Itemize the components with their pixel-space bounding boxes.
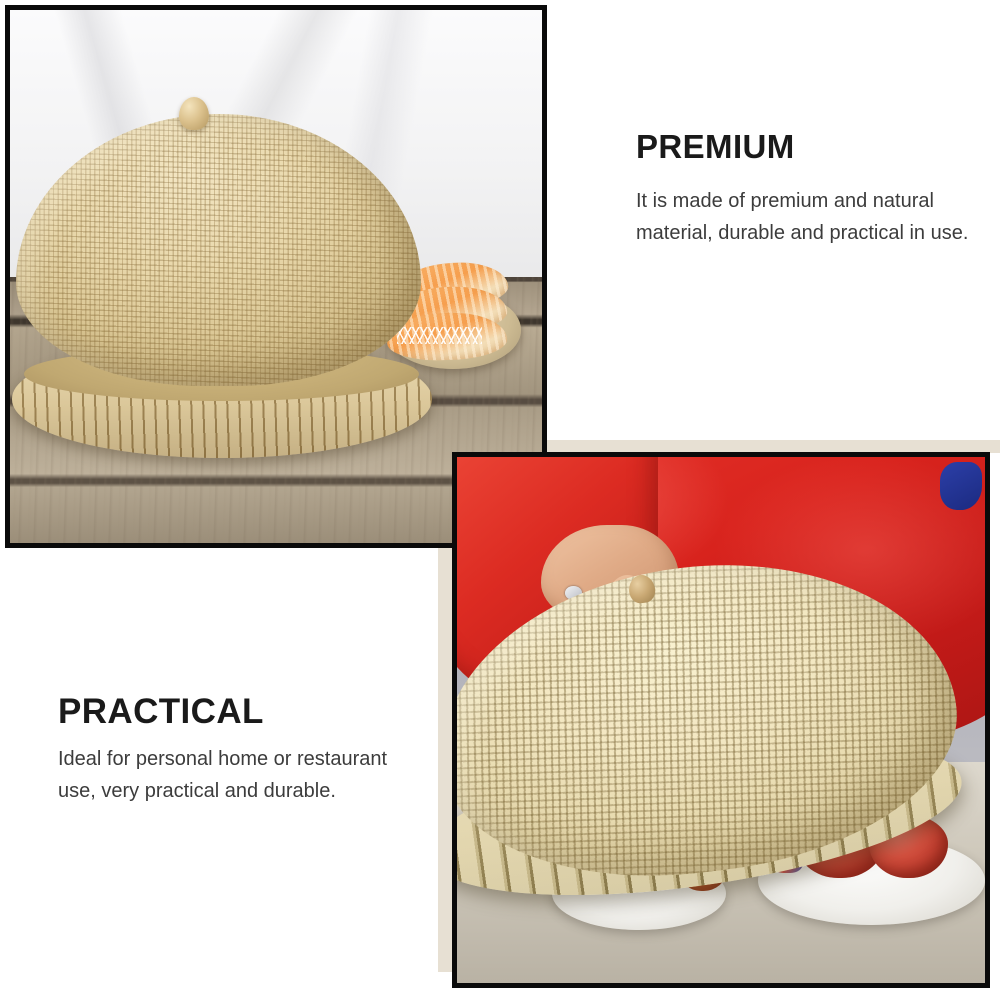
dome-knob-handle [179, 97, 209, 130]
feature-block-practical: PRACTICAL Ideal for personal home or res… [58, 694, 402, 808]
product-feature-collage: PREMIUM It is made of premium and natura… [0, 0, 1000, 1000]
feature-body-premium: It is made of premium and natural materi… [636, 185, 972, 250]
blue-fabric-detail [940, 462, 982, 509]
feature-heading-premium: PREMIUM [636, 130, 972, 165]
icing-zigzag [397, 327, 482, 344]
feature-body-practical: Ideal for personal home or restaurant us… [58, 743, 402, 808]
feature-block-premium: PREMIUM It is made of premium and natura… [636, 130, 972, 249]
feature-heading-practical: PRACTICAL [58, 694, 402, 731]
product-photo-practical [452, 452, 990, 988]
photo-practical-scene [457, 457, 985, 983]
